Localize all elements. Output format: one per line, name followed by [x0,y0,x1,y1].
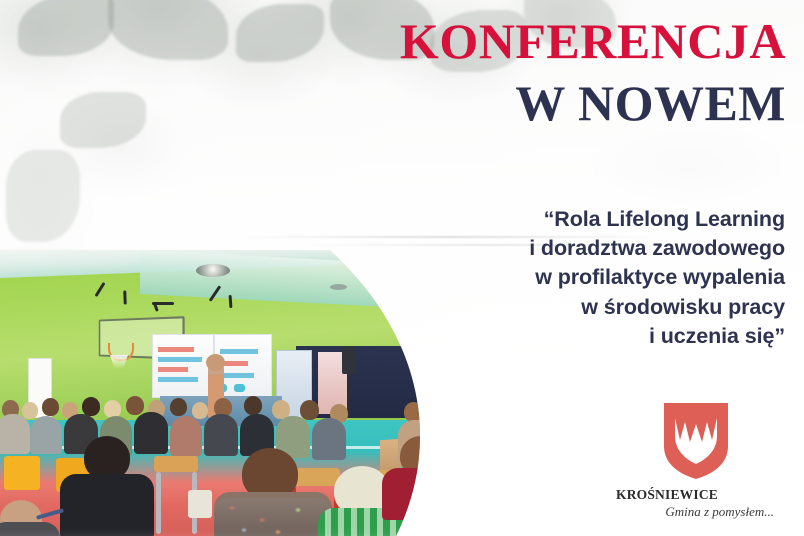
quote-line: w środowisku pracy [365,293,785,322]
photo-audience-head [468,402,488,423]
photo-laptop [188,490,212,518]
photo-audience-body [462,422,500,468]
photo-chair-leg [422,488,428,536]
photo-audience-head [192,402,208,419]
photo-chair [4,456,40,490]
title-line-w-nowem: W NOWEM [400,78,786,128]
quote-line: i uczenia się” [365,322,785,351]
photo-audience-head [170,398,187,416]
photo-audience-head [126,396,144,415]
photo-audience-head [42,398,59,416]
photo-ceiling-lamp-icon [330,284,347,290]
photo-audience-body [170,416,202,456]
photo-audience-head [532,402,552,423]
title-line-konferencja: KONFERENCJA [400,16,786,66]
photo-audience-head [432,406,451,426]
photo-audience-table [400,457,556,482]
photo-audience-body [524,420,556,466]
conference-subject-quote: “Rola Lifelong Learning i doradztwa zawo… [365,205,785,351]
photo-foreground-body [450,466,536,536]
krosniewice-logo: KROŚNIEWICE Gmina z pomysłem... [612,402,780,520]
photo-foreground-head [466,436,506,474]
photo-foreground-body [60,474,154,536]
photo-chair-back [154,456,198,472]
shield-crest-icon [663,402,729,480]
photo-flipchart [458,346,512,412]
page-title: KONFERENCJA W NOWEM [400,16,786,128]
photo-foreground-body [382,468,462,520]
photo-loudspeaker [342,346,356,374]
quote-line: i doradztwa zawodowego [365,234,785,263]
photo-wall-hook [123,290,126,304]
photo-audience-body [30,416,62,454]
photo-chair-leg [156,472,161,534]
photo-audience-body [312,418,346,460]
photo-presenter-head [206,354,225,371]
photo-foreground-body [0,522,60,536]
photo-audience-head [404,402,423,422]
photo-ceiling-lamp-icon [196,264,230,277]
logo-municipality-name: KROŚNIEWICE [616,487,780,503]
photo-audience-head [244,396,262,415]
photo-audience-head [82,397,100,416]
poster-canvas: KONFERENCJA W NOWEM “Rola Lifelong Learn… [0,0,804,536]
photo-screen-graphic [234,384,245,392]
photo-shopping-bag [444,504,480,536]
photo-audience-head [300,400,319,420]
logo-tagline: Gmina z pomysłem... [612,504,774,520]
photo-audience-body [0,414,30,454]
photo-audience-body [204,414,238,456]
photo-audience-head [22,402,38,419]
background-leaf-icon [6,150,80,242]
photo-side-wall [424,352,556,410]
photo-chair-back [446,478,492,494]
quote-line: “Rola Lifelong Learning [365,205,785,234]
photo-presentation-screen [152,334,214,398]
photo-audience-body [134,412,168,454]
photo-foreground-green-scarf [318,508,426,536]
photo-audience-head [502,406,522,427]
quote-line: w profilaktyce wypalenia [365,263,785,292]
photo-foreground-floral-top [214,498,332,536]
